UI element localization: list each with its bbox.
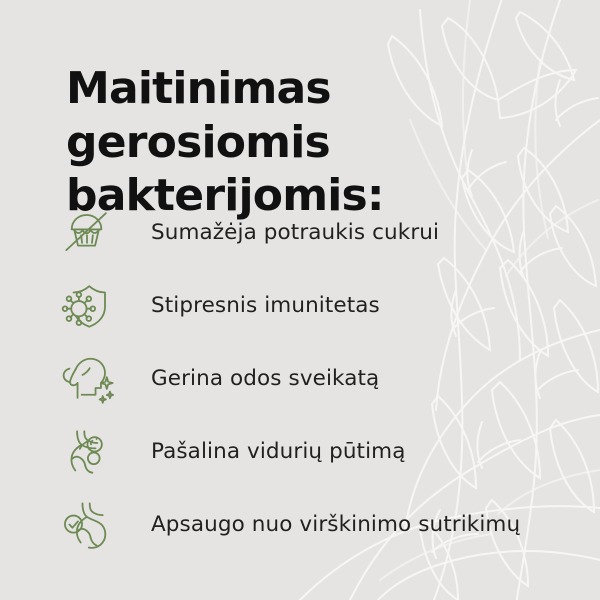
list-item: Gerina odos sveikatą	[0, 342, 600, 415]
list-item: Stipresnis imunitetas	[0, 269, 600, 342]
stomach-check-icon	[58, 496, 116, 554]
list-item: Pašalina vidurių pūtimą	[0, 415, 600, 488]
face-profile-sparkle-icon	[58, 350, 116, 408]
no-sugar-cupcake-icon	[58, 204, 116, 262]
poster-canvas: Maitinimas gerosiomis bakterijomis:	[0, 0, 600, 600]
list-item-label: Gerina odos sveikatą	[151, 366, 379, 392]
shield-virus-icon	[58, 277, 116, 335]
list-item: Sumažėja potraukis cukrui	[0, 196, 600, 269]
list-item-label: Pašalina vidurių pūtimą	[151, 439, 405, 465]
list-item-label: Stipresnis imunitetas	[151, 293, 380, 319]
list-item-label: Apsaugo nuo virškinimo sutrikimų	[151, 512, 520, 538]
list-item-label: Sumažėja potraukis cukrui	[151, 220, 439, 246]
list-item: Apsaugo nuo virškinimo sutrikimų	[0, 488, 600, 561]
stomach-bubbles-icon	[58, 423, 116, 481]
benefits-list: Sumažėja potraukis cukrui	[0, 196, 600, 561]
poster-content: Maitinimas gerosiomis bakterijomis:	[0, 0, 600, 600]
